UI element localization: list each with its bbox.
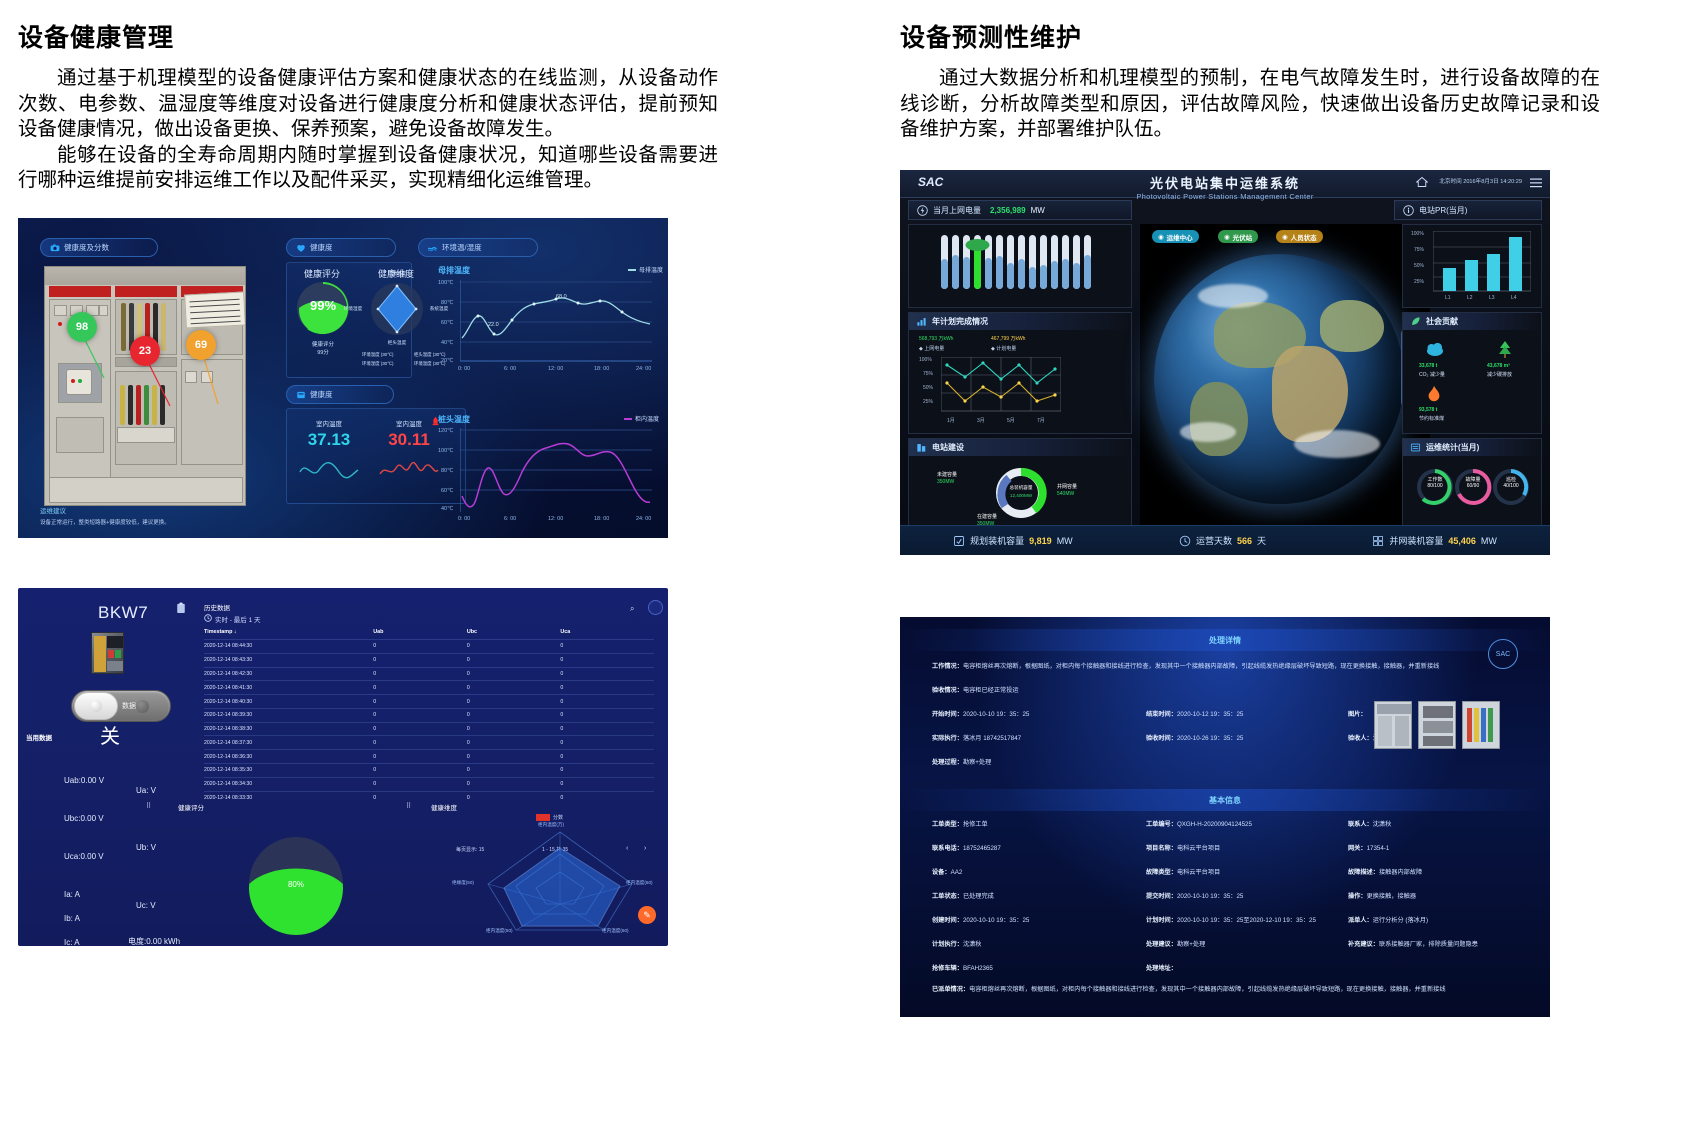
footer-value: 9,819 — [1029, 536, 1052, 546]
score-bubble-98[interactable]: 98 — [67, 312, 97, 342]
health-score-caption-1: 健康评分 — [295, 340, 351, 348]
y-tick: 100% — [919, 357, 932, 363]
col-uab[interactable]: Uab — [373, 626, 467, 640]
advice-title: 运维建议 — [40, 505, 66, 515]
health-score-gauge-percent: 80% — [246, 880, 346, 889]
section-basic-banner: 基本信息 — [900, 789, 1550, 811]
row-value: 2020-10-10 19：35：25 — [963, 711, 1029, 718]
ops-stats-panel: 运维统计(当月) 工作数 80/100 故障量 60/90 — [1402, 438, 1542, 526]
row-value: 18752465287 — [963, 845, 1001, 852]
legend-label: 上网电量 — [924, 346, 944, 352]
legend-label: 柜内温度 — [635, 414, 659, 423]
col-uca[interactable]: Uca — [560, 626, 654, 640]
basic-info-cell: 操作：更换接触，接触器 — [1348, 891, 1416, 900]
ring-value: 60/90 — [1467, 483, 1480, 489]
cell-value: 0 — [467, 653, 561, 667]
row-label: 故障描述： — [1348, 869, 1379, 876]
legend-swatch — [624, 418, 632, 420]
cell-value: 0 — [373, 777, 467, 791]
indoor-temp-label-a: 室内温度 — [298, 418, 360, 428]
construction-center-value: 12,400MW — [993, 493, 1049, 498]
row-value: 2020-10-26 19：35：25 — [1177, 735, 1243, 742]
cell-value: 0 — [560, 653, 654, 667]
cell-value: 0 — [373, 764, 467, 778]
map-pill-pv-station[interactable]: ◉ 光伏站 — [1218, 230, 1258, 243]
x-tick: L3 — [1489, 295, 1495, 301]
social-contribution-panel: 社会贡献 33,678 t CO₂ 减少量 43,678 m³ 减少碳排放 93… — [1402, 312, 1542, 434]
table-row[interactable]: 2020-12-14 08:42:30000 — [204, 667, 654, 681]
y-tick: 120℃ — [438, 428, 453, 434]
legend-swatch — [536, 814, 550, 821]
plan-icon — [953, 535, 965, 547]
radar-chart — [480, 826, 640, 936]
row-value: 17354-1 — [1367, 845, 1390, 852]
x-tick: 0: 00 — [458, 516, 470, 522]
menu-icon[interactable] — [1530, 178, 1542, 188]
score-bubble-69[interactable]: 69 — [186, 330, 216, 360]
grid-icon — [1372, 535, 1384, 547]
row-label: 项目名称： — [1146, 845, 1177, 852]
row-label: 工作情况： — [932, 663, 963, 670]
y-tick: 25% — [923, 399, 933, 405]
leaf-icon — [1410, 316, 1421, 327]
cell-value: 0 — [560, 791, 654, 804]
score-panel-title: 健康评分 — [178, 802, 204, 812]
cell-timestamp: 2020-12-14 08:33:30 — [204, 791, 373, 804]
cell-timestamp: 2020-12-14 08:38:30 — [204, 722, 373, 736]
basic-info-cell: 故障类型：电科云平台项目 — [1146, 867, 1220, 876]
paragraph-left-2: 能够在设备的全寿命周期内随时掌握到设备健康状况，知道哪些设备需要进行哪种运维提前… — [18, 143, 718, 194]
clipboard-icon — [176, 602, 186, 614]
row-label: 工单状态： — [932, 893, 963, 900]
cell-timestamp: 2020-12-14 08:39:30 — [204, 708, 373, 722]
co2-label: CO₂ 减少量 — [1419, 371, 1445, 378]
ring-label: 巡检 — [1506, 477, 1516, 483]
start-time-row: 开始时间：2020-10-10 19：35：25 — [932, 709, 1029, 718]
basic-info-cell: 设备：AA2 — [932, 867, 962, 876]
monthly-grid-power-value: 2,356,989 — [990, 206, 1026, 215]
footer-operating-days: 运营天数 566 天 — [1179, 534, 1266, 547]
row-value: 电容柜已经正常投运 — [963, 687, 1019, 694]
pill-label: 光伏站 — [1233, 232, 1253, 242]
footer-label: 并网装机容量 — [1389, 534, 1443, 547]
footer-label: 规划装机容量 — [970, 534, 1024, 547]
ring-value: 80/100 — [1427, 483, 1442, 489]
table-row[interactable]: 2020-12-14 08:37:30000 — [204, 736, 654, 750]
station-construction-panel: 电站建设 总装机容量 12,400MW 未建容量 350MW 并网容量 540M… — [908, 438, 1132, 526]
x-tick: 24: 00 — [636, 516, 651, 522]
footer-planned-capacity: 规划装机容量 9,819 MW — [953, 534, 1073, 547]
fire-icon — [1425, 385, 1443, 403]
basic-info-cell: 故障描述：接触器内部故障 — [1348, 867, 1422, 876]
cell-timestamp: 2020-12-14 08:44:30 — [204, 640, 373, 654]
cell-value: 0 — [560, 777, 654, 791]
basic-info-cell: 联系人：沈潇秋 — [1348, 819, 1391, 828]
chart-stud-temperature: 120℃ 100℃ 80℃ 60℃ 40℃ 0: 00 6: 00 12: 00… — [438, 426, 656, 528]
health-score-title: 健康评分 — [286, 267, 358, 280]
map-pill-personnel[interactable]: ◉ 人员状态 — [1276, 230, 1323, 243]
row-label: 联系电话： — [932, 845, 963, 852]
cell-value: 0 — [560, 640, 654, 654]
cell-value: 0 — [467, 764, 561, 778]
measure-uab: Uab:0.00 V — [64, 776, 104, 785]
wave-icon — [428, 243, 438, 253]
basic-info-cell: 创建时间：2020-10-10 19：35：25 — [932, 915, 1029, 924]
x-tick: 12: 00 — [548, 516, 563, 522]
bubble-value: 23 — [139, 345, 151, 357]
cell-timestamp: 2020-12-14 08:37:30 — [204, 736, 373, 750]
tree-icon — [1495, 339, 1515, 359]
footer-label: 运营天数 — [1196, 534, 1232, 547]
current-data-label: 当用数据 — [26, 732, 52, 742]
cell-value: 0 — [373, 695, 467, 709]
clock-icon — [1179, 535, 1191, 547]
row-value: 2020-10-10 19：35：25至2020-12-10 19：35：25 — [1177, 917, 1316, 924]
radar-legend[interactable]: 分数 — [536, 814, 563, 821]
row-label: 计划时间： — [1146, 917, 1177, 924]
switchgear-photo — [44, 266, 246, 506]
ops-title: 运维统计(当月) — [1426, 442, 1479, 453]
x-tick: L2 — [1467, 295, 1473, 301]
basic-info-cell: 项目名称：电科云平台项目 — [1146, 843, 1220, 852]
paragraph-right-1: 通过大数据分析和机理模型的预制，在电气故障发生时，进行设备故障的在线诊断，分析故… — [900, 66, 1600, 143]
x-tick: 5月 — [1007, 417, 1015, 424]
page-title-right: 设备预测性维护 — [900, 18, 1600, 54]
unbuilt-label: 未建容量 — [937, 471, 957, 478]
cell-value: 0 — [373, 736, 467, 750]
footer-unit: MW — [1057, 536, 1073, 546]
row-label: 图片： — [1348, 711, 1367, 718]
table-row[interactable]: 2020-12-14 08:40:30000 — [204, 695, 654, 709]
power-bar-meter-panel — [908, 224, 1132, 308]
chart-bottom-legend: 柜内温度 — [624, 414, 659, 423]
measure-ub: Ub: V — [136, 843, 156, 852]
measure-uc: Uc: V — [136, 901, 156, 910]
cell-timestamp: 2020-12-14 08:34:30 — [204, 777, 373, 791]
col-timestamp[interactable]: Timestamp ↓ — [204, 626, 373, 640]
cell-value: 0 — [467, 681, 561, 695]
cell-value: 0 — [560, 695, 654, 709]
cell-timestamp: 2020-12-14 08:42:30 — [204, 667, 373, 681]
clock-text: 北京时间 2016年8月3日 14:20:29 — [1439, 177, 1522, 185]
row-label: 工单类型： — [932, 821, 963, 828]
radar-panel-title: 健康维度 — [431, 802, 457, 812]
table-row[interactable]: 2020-12-14 08:34:30000 — [204, 777, 654, 791]
table-row[interactable]: 2020-12-14 08:33:30000 — [204, 791, 654, 804]
list-icon — [1410, 442, 1421, 453]
cell-value: 0 — [560, 750, 654, 764]
cell-value: 0 — [467, 695, 561, 709]
x-tick: L4 — [1511, 295, 1517, 301]
tab-health-score-photo[interactable]: 健康度及分数 — [40, 238, 158, 257]
info-icon — [1403, 205, 1414, 216]
row-label: 工单编号： — [1146, 821, 1177, 828]
basic-info-cell: 补充建议：联系接触器厂家，排除质量问题隐患 — [1348, 939, 1478, 948]
switch-state: 关 — [100, 720, 120, 749]
avatar[interactable] — [648, 600, 663, 615]
radar-axis-3: 柜内温度(50) — [486, 928, 513, 934]
cell-value: 0 — [467, 777, 561, 791]
radar-axis-top: 环境温度 — [370, 271, 424, 277]
row-label: 处理建议： — [1146, 941, 1177, 948]
grid-value: 540MW — [1057, 491, 1074, 497]
y-tick: 50% — [1414, 263, 1424, 269]
unbuilt-value: 350MW — [937, 479, 954, 485]
legend-swatch — [628, 269, 636, 271]
table-header-row: Timestamp ↓ Uab Ubc Uca — [204, 626, 654, 640]
photo-thumb-1[interactable] — [1374, 701, 1412, 749]
cell-value: 0 — [467, 708, 561, 722]
row-label: 派单人： — [1348, 917, 1373, 924]
box-icon — [296, 390, 306, 400]
legend-label: 母排温度 — [639, 265, 663, 274]
basic-info-cell: 工单状态：已处理完成 — [932, 891, 994, 900]
ring-label: 工作数 — [1427, 477, 1442, 483]
row-label: 网关： — [1348, 845, 1367, 852]
device-name: BKW7 — [98, 603, 148, 623]
yearly-legend-plan: ◆ 计划电量 — [991, 345, 1016, 352]
monthly-grid-power-bar: 当月上网电量 2,356,989 MW — [908, 200, 1132, 220]
y-tick: 50% — [923, 385, 933, 391]
bkw7-dashboard-screenshot: BKW7 数据 关 当用数据 Uab:0.00 V Ubc:0.00 V Uca… — [18, 588, 668, 946]
table-row[interactable]: 2020-12-14 08:41:30000 — [204, 681, 654, 695]
right-column: 设备预测性维护 通过大数据分析和机理模型的预制，在电气故障发生时，进行设备故障的… — [900, 0, 1600, 143]
y-tick: 75% — [923, 371, 933, 377]
cell-timestamp: 2020-12-14 08:41:30 — [204, 681, 373, 695]
ring-value: 40/100 — [1503, 483, 1518, 489]
table-row[interactable]: 2020-12-14 08:44:30000 — [204, 640, 654, 654]
tab-env-temp-humidity[interactable]: 环境温/湿度 — [418, 238, 538, 257]
x-tick: 3月 — [977, 417, 985, 424]
drag-handle-radar[interactable]: ⠿ — [406, 802, 411, 810]
row-value: 更换接触，接触器 — [1367, 893, 1417, 900]
basic-info-cell: 派单人：运行分析分 (落冰月) — [1348, 915, 1428, 924]
cell-value: 0 — [560, 708, 654, 722]
ops-ring-patrol-text: 巡检 40/100 — [1491, 477, 1531, 490]
photo-thumb-2[interactable] — [1418, 701, 1456, 749]
x-tick: 24: 00 — [636, 366, 651, 372]
co2-value: 33,678 t — [1419, 363, 1437, 369]
row-label: 补充建议： — [1348, 941, 1379, 948]
search-icon[interactable]: ⌕ — [630, 604, 634, 614]
camera-icon — [50, 243, 60, 253]
pr-label: 电站PR(当月) — [1419, 205, 1467, 216]
basic-info-cell: 抢修车辆：BFAH2365 — [932, 963, 993, 972]
row-label: 联系人： — [1348, 821, 1373, 828]
ops-ring-fault-text: 故障量 60/90 — [1453, 477, 1493, 490]
work-situation-row: 工作情况：电容柜熔丝再次熔断，根据图纸，对柜内每个接触器和接线进行检查，发现其中… — [932, 661, 1439, 670]
indoor-temp-value-a: 37.13 — [298, 430, 360, 450]
home-icon[interactable] — [1416, 176, 1428, 188]
measure-ubc: Ubc:0.00 V — [64, 814, 104, 823]
actual-executor-row: 实际执行：落冰月 18742517847 — [932, 733, 1021, 742]
edit-fab-button[interactable]: ✎ — [638, 906, 656, 924]
col-label: Timestamp — [204, 629, 232, 635]
x-tick: 18: 00 — [594, 366, 609, 372]
table-row[interactable]: 2020-12-14 08:39:30000 — [204, 708, 654, 722]
pill-label: 人员状态 — [1291, 232, 1317, 242]
row-label: 创建时间： — [932, 917, 963, 924]
cell-value: 0 — [560, 736, 654, 750]
radar-axis-2: 柜内温度(50) — [602, 928, 629, 934]
history-title: 历史数据 — [204, 602, 230, 612]
footer-value: 45,406 — [1448, 536, 1476, 546]
y-tick: 80℃ — [441, 300, 453, 306]
next-page-button[interactable]: › — [644, 845, 646, 852]
footer-grid-capacity: 并网装机容量 45,406 MW — [1372, 534, 1497, 547]
cell-value: 0 — [467, 640, 561, 654]
row-label: 已派单情况： — [932, 986, 969, 993]
section-basic-title: 基本信息 — [1209, 795, 1241, 806]
x-tick: 7月 — [1037, 417, 1045, 424]
row-label: 设备： — [932, 869, 951, 876]
cell-value: 0 — [560, 667, 654, 681]
row-label: 处理过程： — [932, 759, 963, 766]
cell-value: 0 — [467, 667, 561, 681]
y-tick: 40℃ — [441, 506, 453, 512]
cell-value: 0 — [560, 764, 654, 778]
bubble-value: 98 — [76, 321, 88, 333]
heart-icon — [296, 243, 306, 253]
cell-value: 0 — [467, 750, 561, 764]
toggle-knob[interactable] — [74, 692, 118, 720]
table-row[interactable]: 2020-12-14 08:38:30000 — [204, 722, 654, 736]
chart-annotation-2: 68.0 — [556, 294, 567, 300]
row-label: 验收情况： — [932, 687, 963, 694]
reduce-value: 43,678 m³ — [1487, 363, 1510, 369]
radar-axis-4: 绝缘度(50) — [452, 880, 474, 886]
toggle-off-circle — [136, 700, 149, 713]
tab-health-degree-2[interactable]: 健康度 — [286, 385, 394, 404]
measure-kwh: 电度:0.00 kWh — [128, 936, 180, 946]
y-tick: 100% — [1411, 231, 1424, 237]
table-row[interactable]: 2020-12-14 08:36:30000 — [204, 750, 654, 764]
score-bubble-23[interactable]: 23 — [130, 336, 160, 366]
radar-axis-1: 柜内温度(50) — [626, 880, 653, 886]
health-score-caption-2: 99分 — [295, 348, 351, 356]
power-toggle[interactable]: 数据 — [71, 690, 171, 722]
table-row[interactable]: 2020-12-14 08:35:30000 — [204, 764, 654, 778]
advice-text: 设备正常运行，整类短路器+健康度较低，建议更换。 — [40, 518, 170, 526]
monthly-grid-power-unit: MW — [1031, 206, 1045, 215]
basic-info-cell: 提交时间：2020-10-10 19：35：25 — [1146, 891, 1243, 900]
row-value: 电科云平台项目 — [1177, 869, 1220, 876]
row-label: 抢修车辆： — [932, 965, 963, 972]
row-label: 验收人： — [1348, 735, 1373, 742]
row-value: 沈潇秋 — [1373, 821, 1392, 828]
row-value: 落冰月 18742517847 — [963, 735, 1021, 742]
toggle-label: 数据 — [122, 701, 136, 711]
tab-label: 健康度及分数 — [64, 242, 109, 253]
acceptance-time-row: 验收时间：2020-10-26 19：35：25 — [1146, 733, 1243, 742]
col-ubc[interactable]: Ubc — [467, 626, 561, 640]
earth-globe — [1154, 254, 1404, 504]
footer-unit: MW — [1481, 536, 1497, 546]
pin-icon: ◉ — [1224, 233, 1230, 241]
row-value: BFAH2365 — [963, 965, 993, 972]
drag-handle-score[interactable]: ⠿ — [146, 802, 151, 810]
basic-info-cell: 工单编号：QXGH-H-20200904124525 — [1146, 819, 1252, 828]
row-value: 电科云平台项目 — [1177, 845, 1220, 852]
cell-value: 0 — [373, 722, 467, 736]
power-icon — [917, 205, 928, 216]
acceptance-situation-row: 验收情况：电容柜已经正常投运 — [932, 685, 1019, 694]
cell-value: 0 — [560, 681, 654, 695]
measure-ia: Ia: A — [64, 890, 80, 899]
monthly-grid-power-label: 当月上网电量 — [933, 205, 981, 216]
y-tick: 100℃ — [438, 280, 453, 286]
reduce-label: 减少碳排放 — [1487, 371, 1512, 378]
measure-ua: Ua: V — [136, 786, 156, 795]
tab-health-degree[interactable]: 健康度 — [286, 238, 396, 257]
section-detail-title: 处理详情 — [1209, 635, 1241, 646]
sparkline-indoor-a — [298, 458, 360, 482]
left-column: 设备健康管理 通过基于机理模型的设备健康评估方案和健康状态的在线监测，从设备动作… — [18, 0, 718, 194]
cell-timestamp: 2020-12-14 08:35:30 — [204, 764, 373, 778]
row-value: 接触器内部故障 — [1379, 869, 1422, 876]
y-tick: 40℃ — [441, 340, 453, 346]
row-value: 电容柜熔丝再次熔断，根据图纸，对柜内每个接触器和接线进行检查，发现其中一个接触器… — [963, 663, 1439, 670]
y-tick: 60℃ — [441, 320, 453, 326]
construction-title: 电站建设 — [932, 442, 964, 453]
row-label: 操作： — [1348, 893, 1367, 900]
row-value: QXGH-H-20200904124525 — [1177, 821, 1252, 828]
row-label: 提交时间： — [1146, 893, 1177, 900]
cell-value: 0 — [373, 708, 467, 722]
pin-icon: ◉ — [1282, 233, 1288, 241]
basic-info-cell: 联系电话：18752465287 — [932, 843, 1001, 852]
pv-footer: 规划装机容量 9,819 MW 运营天数 566 天 — [900, 525, 1550, 555]
y-tick: 20℃ — [441, 358, 453, 364]
row-value: 2020-10-10 19：35：25 — [1177, 893, 1243, 900]
coal-label: 节约标准煤 — [1419, 415, 1444, 422]
y-tick: 100℃ — [438, 448, 453, 454]
cell-timestamp: 2020-12-14 08:40:30 — [204, 695, 373, 709]
construction-center-label: 总装机容量 — [993, 485, 1049, 491]
coal-value: 93,578 t — [1419, 407, 1437, 413]
history-range[interactable]: 实时 - 最后 1 天 — [215, 614, 261, 624]
basic-info-cell: 处理地址： — [1146, 963, 1177, 972]
yearly-value-plan: 467,799 万kWh — [991, 335, 1025, 342]
footer-value: 566 — [1237, 536, 1252, 546]
row-value: 运行分析分 (落冰月) — [1373, 917, 1428, 924]
basic-info-cell: 处理建议：勘察+处理 — [1146, 939, 1205, 948]
row-value: 勘察+处理 — [1177, 941, 1205, 948]
cell-value: 0 — [373, 653, 467, 667]
legend-label: 计划电量 — [996, 346, 1016, 352]
table-row[interactable]: 2020-12-14 08:43:30000 — [204, 653, 654, 667]
chart-top-legend: 母排温度 — [628, 265, 663, 274]
chart-top-title: 母排温度 — [438, 265, 470, 276]
x-tick: 12: 00 — [548, 366, 563, 372]
dimension-metric-3: 环境湿度 (30℃) — [362, 361, 412, 367]
pin-icon: ◉ — [1158, 233, 1164, 241]
tab-label: 健康度 — [310, 242, 333, 253]
end-time-row: 结束时间：2020-10-12 19：35：25 — [1146, 709, 1243, 718]
cell-value: 0 — [467, 736, 561, 750]
yearly-plan-panel: 年计划完成情况 568,793 万kWh 467,799 万kWh ◆ 上网电量… — [908, 312, 1132, 434]
globe-map-area[interactable]: ◉ 运维中心 ◉ 光伏站 ◉ 人员状态 — [1140, 224, 1430, 526]
tab-label: 环境温/湿度 — [442, 242, 482, 253]
yearly-plan-header: 年计划完成情况 — [909, 313, 1131, 330]
map-pill-ops-center[interactable]: ◉ 运维中心 — [1152, 230, 1199, 243]
clock-icon — [204, 614, 212, 622]
row-label: 实际执行： — [932, 735, 963, 742]
pr-bar: 电站PR(当月) — [1394, 200, 1542, 220]
photo-thumb-3[interactable] — [1462, 701, 1500, 749]
measure-ib: Ib: A — [64, 914, 80, 923]
dimension-metric-1: 环境温度 (30℃) — [362, 352, 412, 358]
